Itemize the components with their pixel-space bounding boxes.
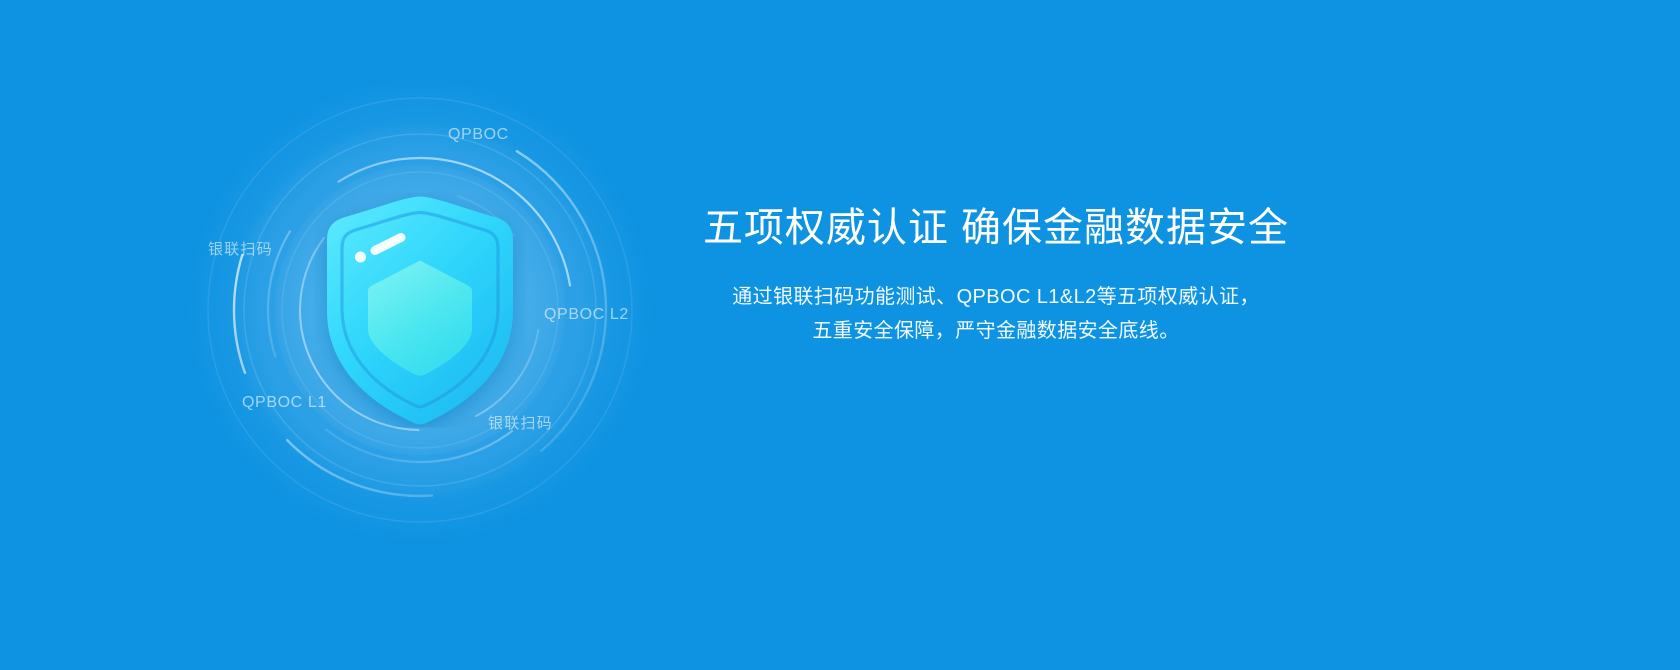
- hero-subtitle-line-2: 五重安全保障，严守金融数据安全底线。: [690, 314, 1302, 348]
- certification-graphic: QPBOC 银联扫码 QPBOC L2 QPBOC L1 银联扫码: [180, 60, 660, 560]
- graphic-label-unionpay-scan-bottom: 银联扫码: [488, 412, 553, 433]
- graphic-label-unionpay-scan-left: 银联扫码: [208, 238, 273, 259]
- graphic-label-qpboc: QPBOC: [448, 126, 509, 144]
- hero-title: 五项权威认证 确保金融数据安全: [690, 200, 1302, 256]
- hero-copy: 五项权威认证 确保金融数据安全 通过银联扫码功能测试、QPBOC L1&L2等五…: [690, 200, 1302, 348]
- graphic-label-qpboc-l1: QPBOC L1: [242, 394, 327, 412]
- promo-banner: QPBOC 银联扫码 QPBOC L2 QPBOC L1 银联扫码 五项权威认证…: [0, 0, 1680, 670]
- graphic-label-qpboc-l2: QPBOC L2: [544, 306, 629, 324]
- hero-subtitle-line-1: 通过银联扫码功能测试、QPBOC L1&L2等五项权威认证，: [690, 280, 1302, 314]
- shield-icon: [315, 193, 525, 428]
- hero-subtitle: 通过银联扫码功能测试、QPBOC L1&L2等五项权威认证， 五重安全保障，严守…: [690, 280, 1302, 348]
